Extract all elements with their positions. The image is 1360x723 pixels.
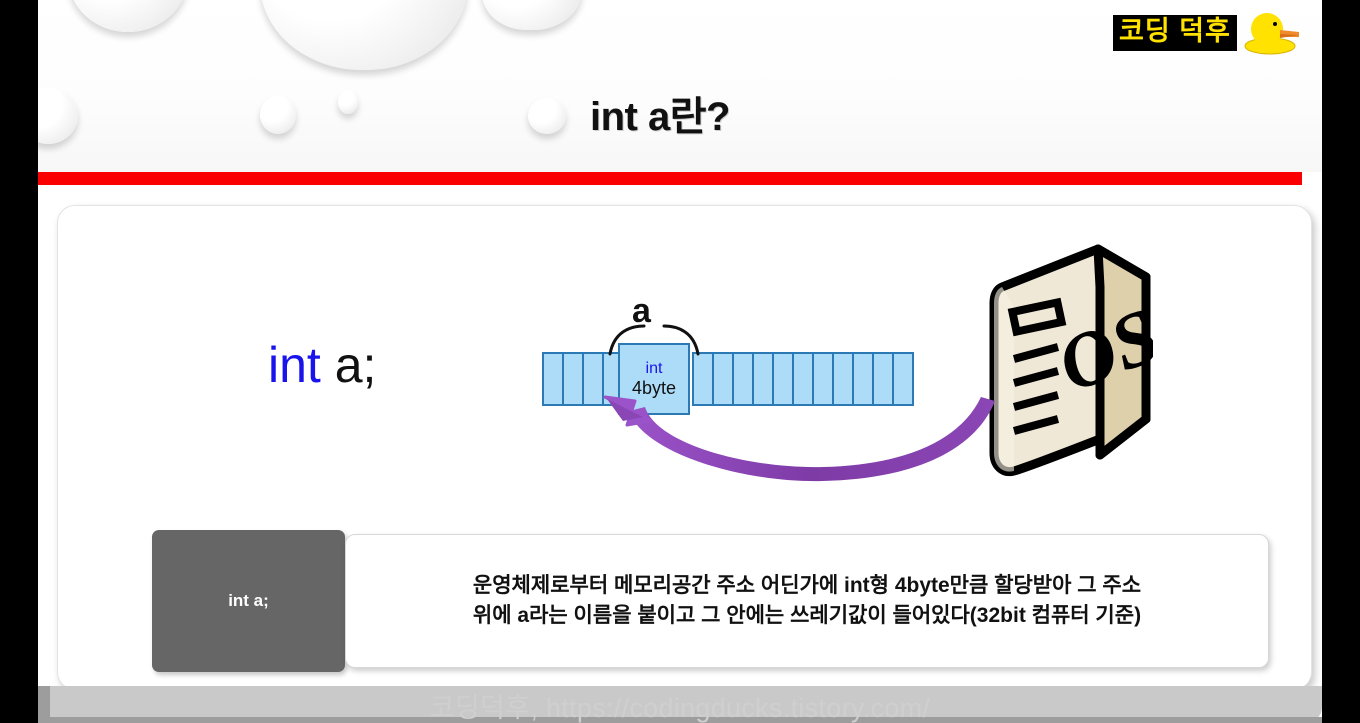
allocated-type-label: int [646, 361, 663, 377]
memory-cell [562, 352, 584, 406]
slide-root: int a란? 코딩 덕후 int a; [0, 0, 1360, 723]
bubble-decoration-icon [482, 0, 582, 30]
slide-body: int a란? 코딩 덕후 int a; [38, 0, 1322, 723]
description-line-2: 위에 a라는 이름을 붙이고 그 안에는 쓰레기값이 들어있다(32bit 컴퓨… [473, 601, 1141, 631]
description-text: 운영체제로부터 메모리공간 주소 어딘가에 int형 4byte만큼 할당받아 … [473, 571, 1141, 632]
memory-cell [542, 352, 564, 406]
footer-side-shade [38, 686, 50, 723]
bubble-decoration-icon [68, 0, 188, 32]
bubble-decoration-icon [528, 98, 566, 134]
description-line-1: 운영체제로부터 메모리공간 주소 어딘가에 int형 4byte만큼 할당받아 … [473, 571, 1141, 601]
bubble-decoration-icon [260, 96, 296, 134]
duck-icon [1243, 10, 1301, 56]
bubble-decoration-icon [338, 90, 358, 114]
description-tag: int a; [152, 530, 345, 672]
brand-logo: 코딩 덕후 [1113, 10, 1301, 56]
description-panel: int a; 운영체제로부터 메모리공간 주소 어딘가에 int형 4byte만… [152, 530, 1269, 672]
declaration-identifier: a; [335, 337, 377, 393]
variable-brace-icon [606, 324, 702, 356]
description-body: 운영체제로부터 메모리공간 주소 어딘가에 int형 4byte만큼 할당받아 … [345, 534, 1269, 668]
variable-name-label: a [632, 294, 651, 328]
accent-divider [38, 172, 1302, 185]
declaration-keyword: int [268, 337, 321, 393]
brand-logo-text: 코딩 덕후 [1113, 15, 1237, 51]
allocation-arrow-icon [583, 395, 1013, 495]
bubble-decoration-icon [38, 88, 78, 144]
declaration-code: int a; [268, 340, 376, 390]
footer-band [38, 686, 1322, 723]
page-title: int a란? [590, 84, 730, 142]
slide-header: int a란? 코딩 덕후 [38, 0, 1322, 172]
bubble-decoration-icon [260, 0, 468, 70]
